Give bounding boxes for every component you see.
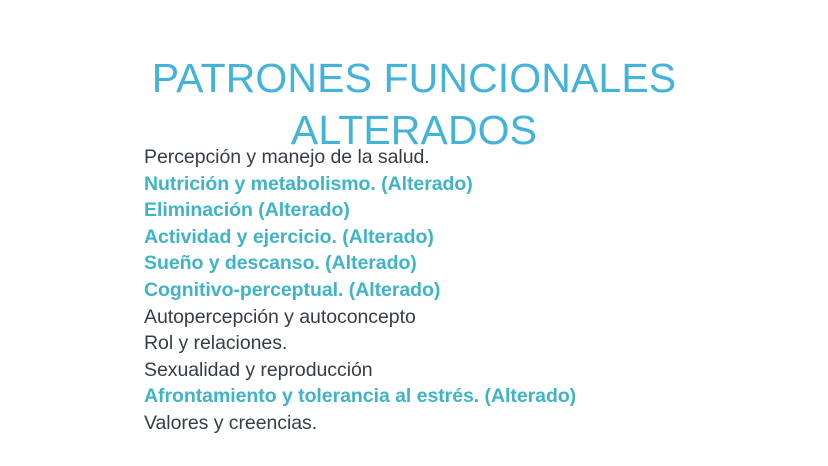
list-item: Afrontamiento y tolerancia al estrés. (A… xyxy=(144,383,784,410)
list-item: Autopercepción y autoconcepto xyxy=(144,304,784,331)
list-item: Cognitivo-perceptual. (Alterado) xyxy=(144,277,784,304)
list-item: Actividad y ejercicio. (Alterado) xyxy=(144,224,784,251)
list-item: Sexualidad y reproducción xyxy=(144,357,784,384)
list-item: Valores y creencias. xyxy=(144,410,784,437)
list-item: Rol y relaciones. xyxy=(144,330,784,357)
slide-canvas: PATRONES FUNCIONALES ALTERADOS Percepció… xyxy=(0,0,828,466)
list-item: Nutrición y metabolismo. (Alterado) xyxy=(144,171,784,198)
list-item: Percepción y manejo de la salud. xyxy=(144,144,784,171)
list-item: Eliminación (Alterado) xyxy=(144,197,784,224)
page-title: PATRONES FUNCIONALES ALTERADOS xyxy=(64,53,764,156)
functional-patterns-list: Percepción y manejo de la salud.Nutrició… xyxy=(144,144,784,437)
list-item: Sueño y descanso. (Alterado) xyxy=(144,250,784,277)
